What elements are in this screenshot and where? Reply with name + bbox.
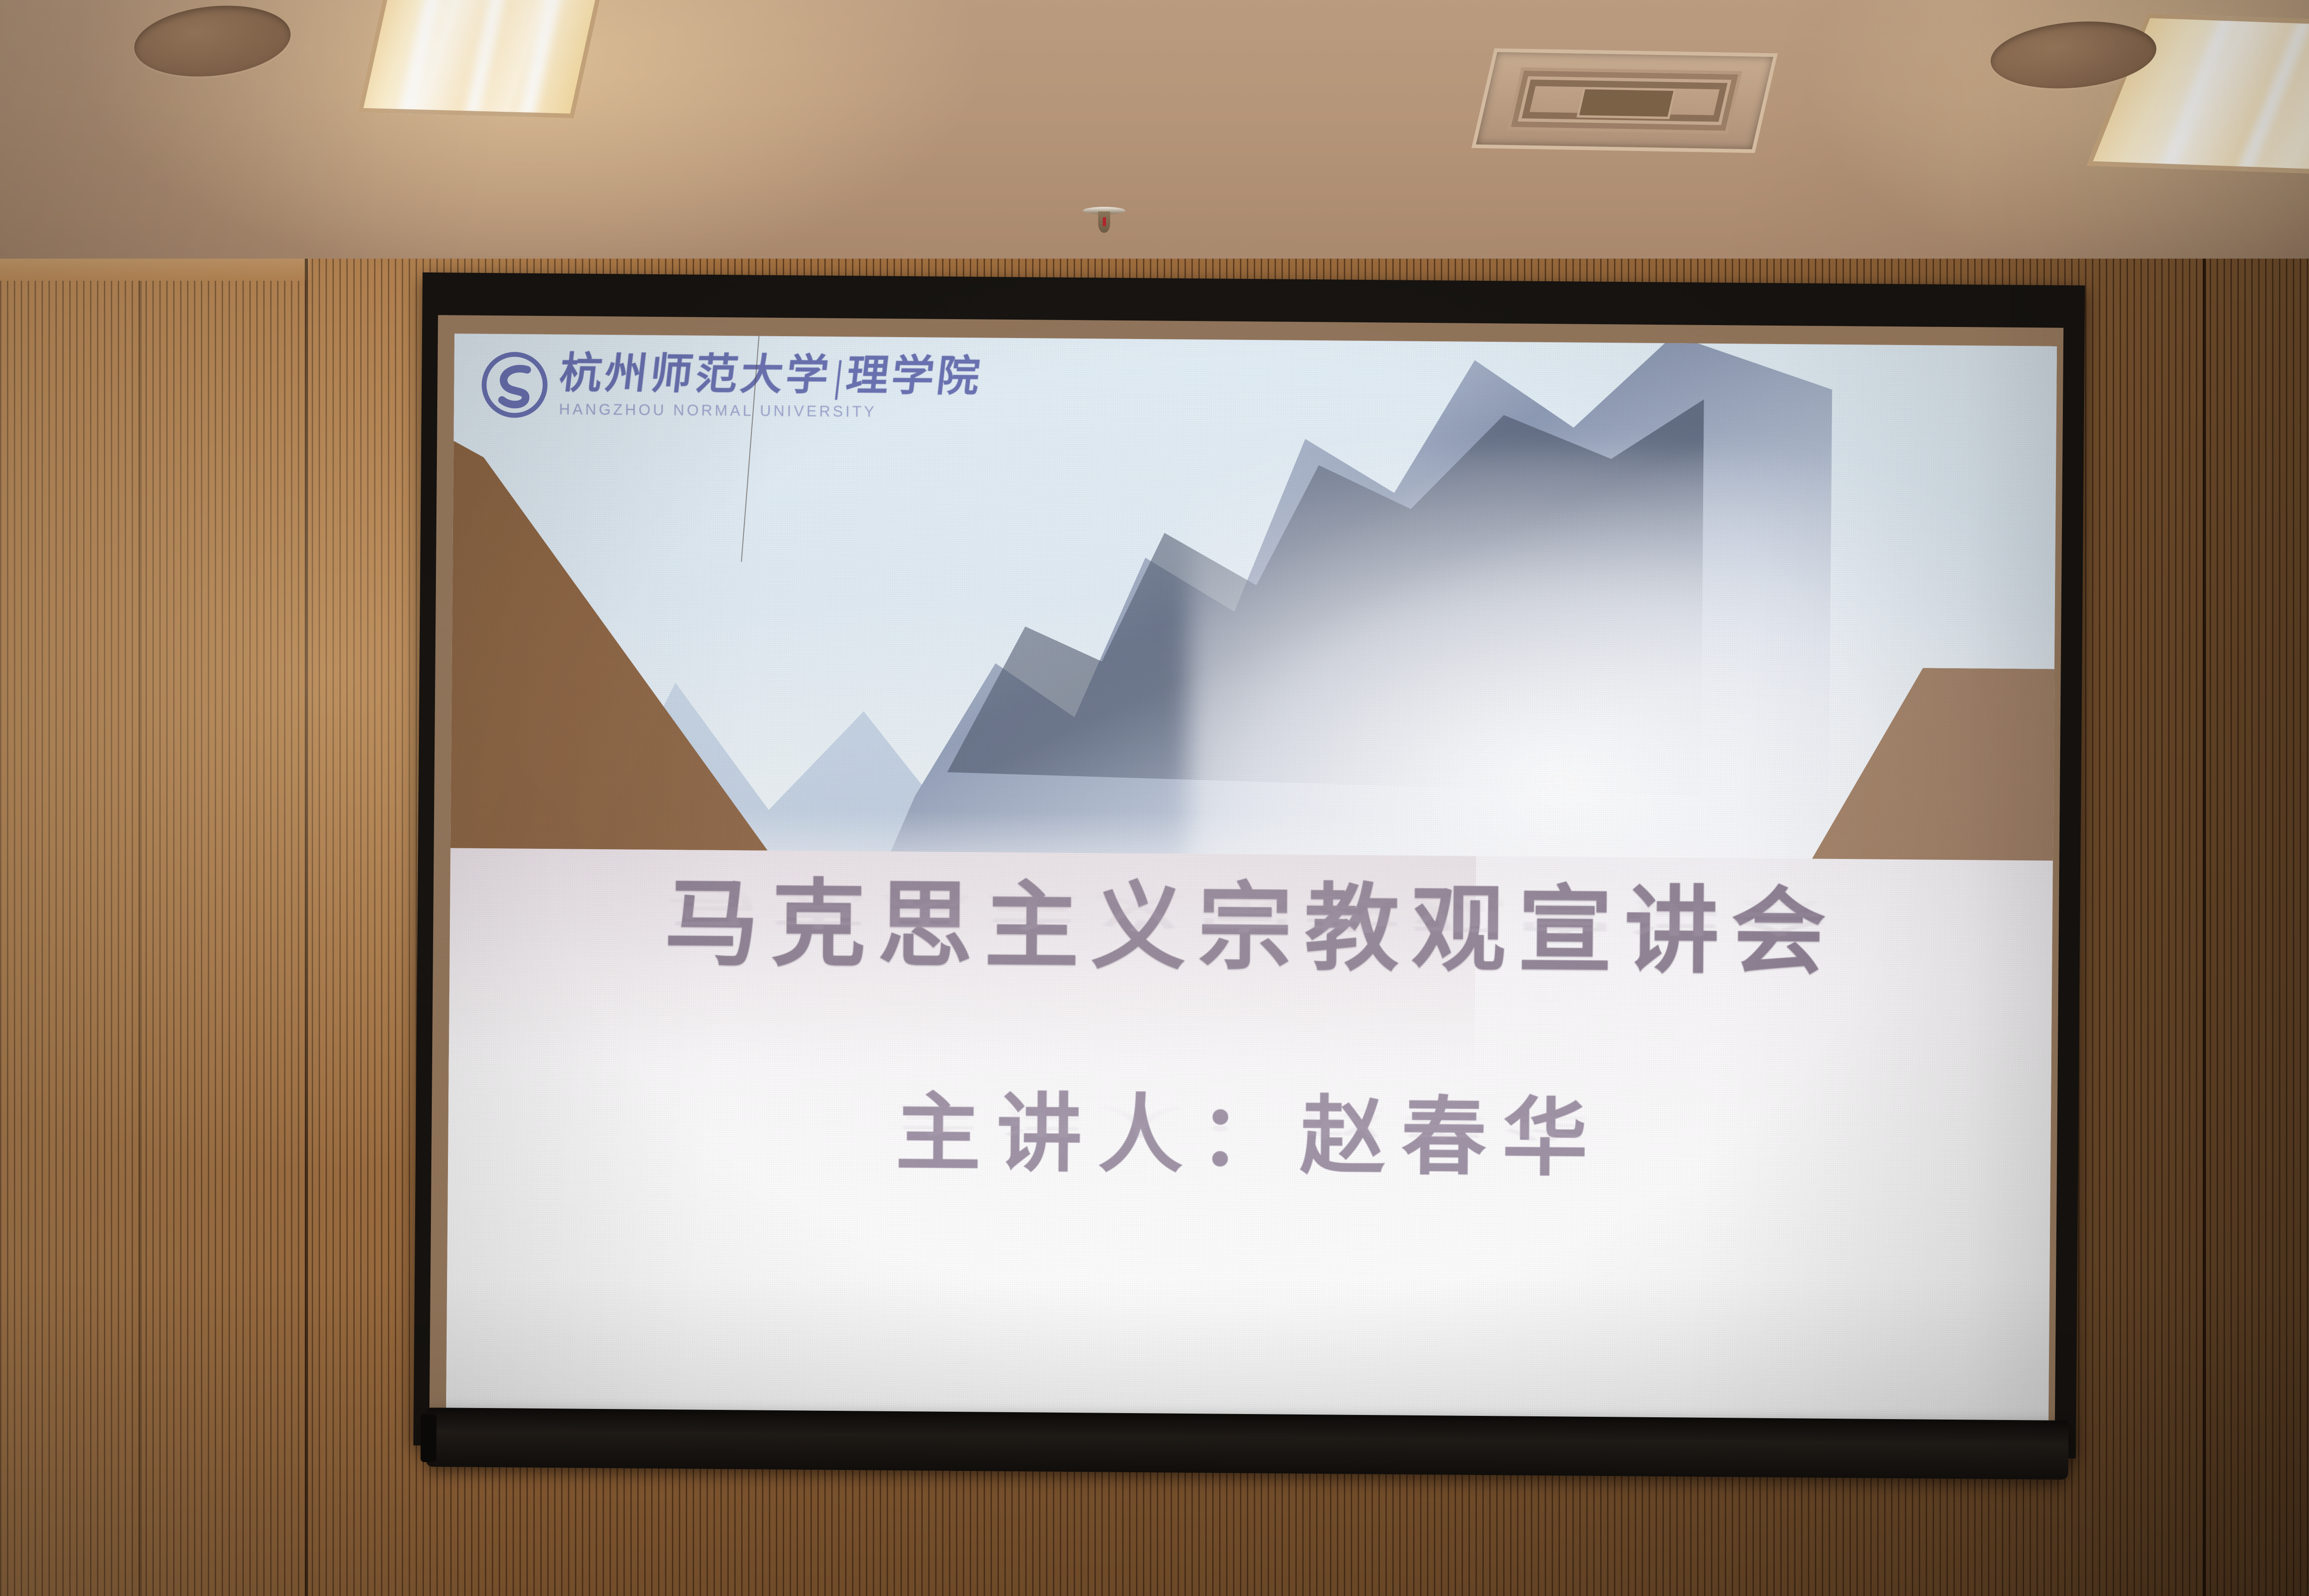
sprinkler-bulb: [1103, 217, 1106, 226]
ceiling-light-left: [358, 0, 607, 118]
logo-college-cn: 理学院: [844, 352, 985, 400]
projection-screen: 杭州师范大学理学院 HANGZHOU NORMAL UNIVERSITY 马克思…: [418, 279, 2080, 1493]
troffer-rim: [358, 0, 607, 118]
lecture-hall-photo: 杭州师范大学理学院 HANGZHOU NORMAL UNIVERSITY 马克思…: [0, 0, 2309, 1596]
logo-chinese-text: 杭州师范大学理学院: [556, 352, 984, 401]
screen-bottom-bar: [426, 1408, 2069, 1480]
university-emblem-icon: [479, 350, 549, 420]
logo-english-text: HANGZHOU NORMAL UNIVERSITY: [559, 401, 981, 422]
fire-sprinkler-icon: [1083, 207, 1125, 239]
university-logo: 杭州师范大学理学院 HANGZHOU NORMAL UNIVERSITY: [479, 350, 982, 423]
air-diffuser-vent-icon: [1471, 48, 1777, 153]
logo-text-block: 杭州师范大学理学院 HANGZHOU NORMAL UNIVERSITY: [559, 352, 982, 422]
ceiling-shading: [0, 0, 2309, 296]
logo-divider: [834, 360, 841, 400]
logo-university-cn: 杭州师范大学: [557, 350, 834, 399]
projected-slide: 杭州师范大学理学院 HANGZHOU NORMAL UNIVERSITY 马克思…: [446, 333, 2057, 1422]
